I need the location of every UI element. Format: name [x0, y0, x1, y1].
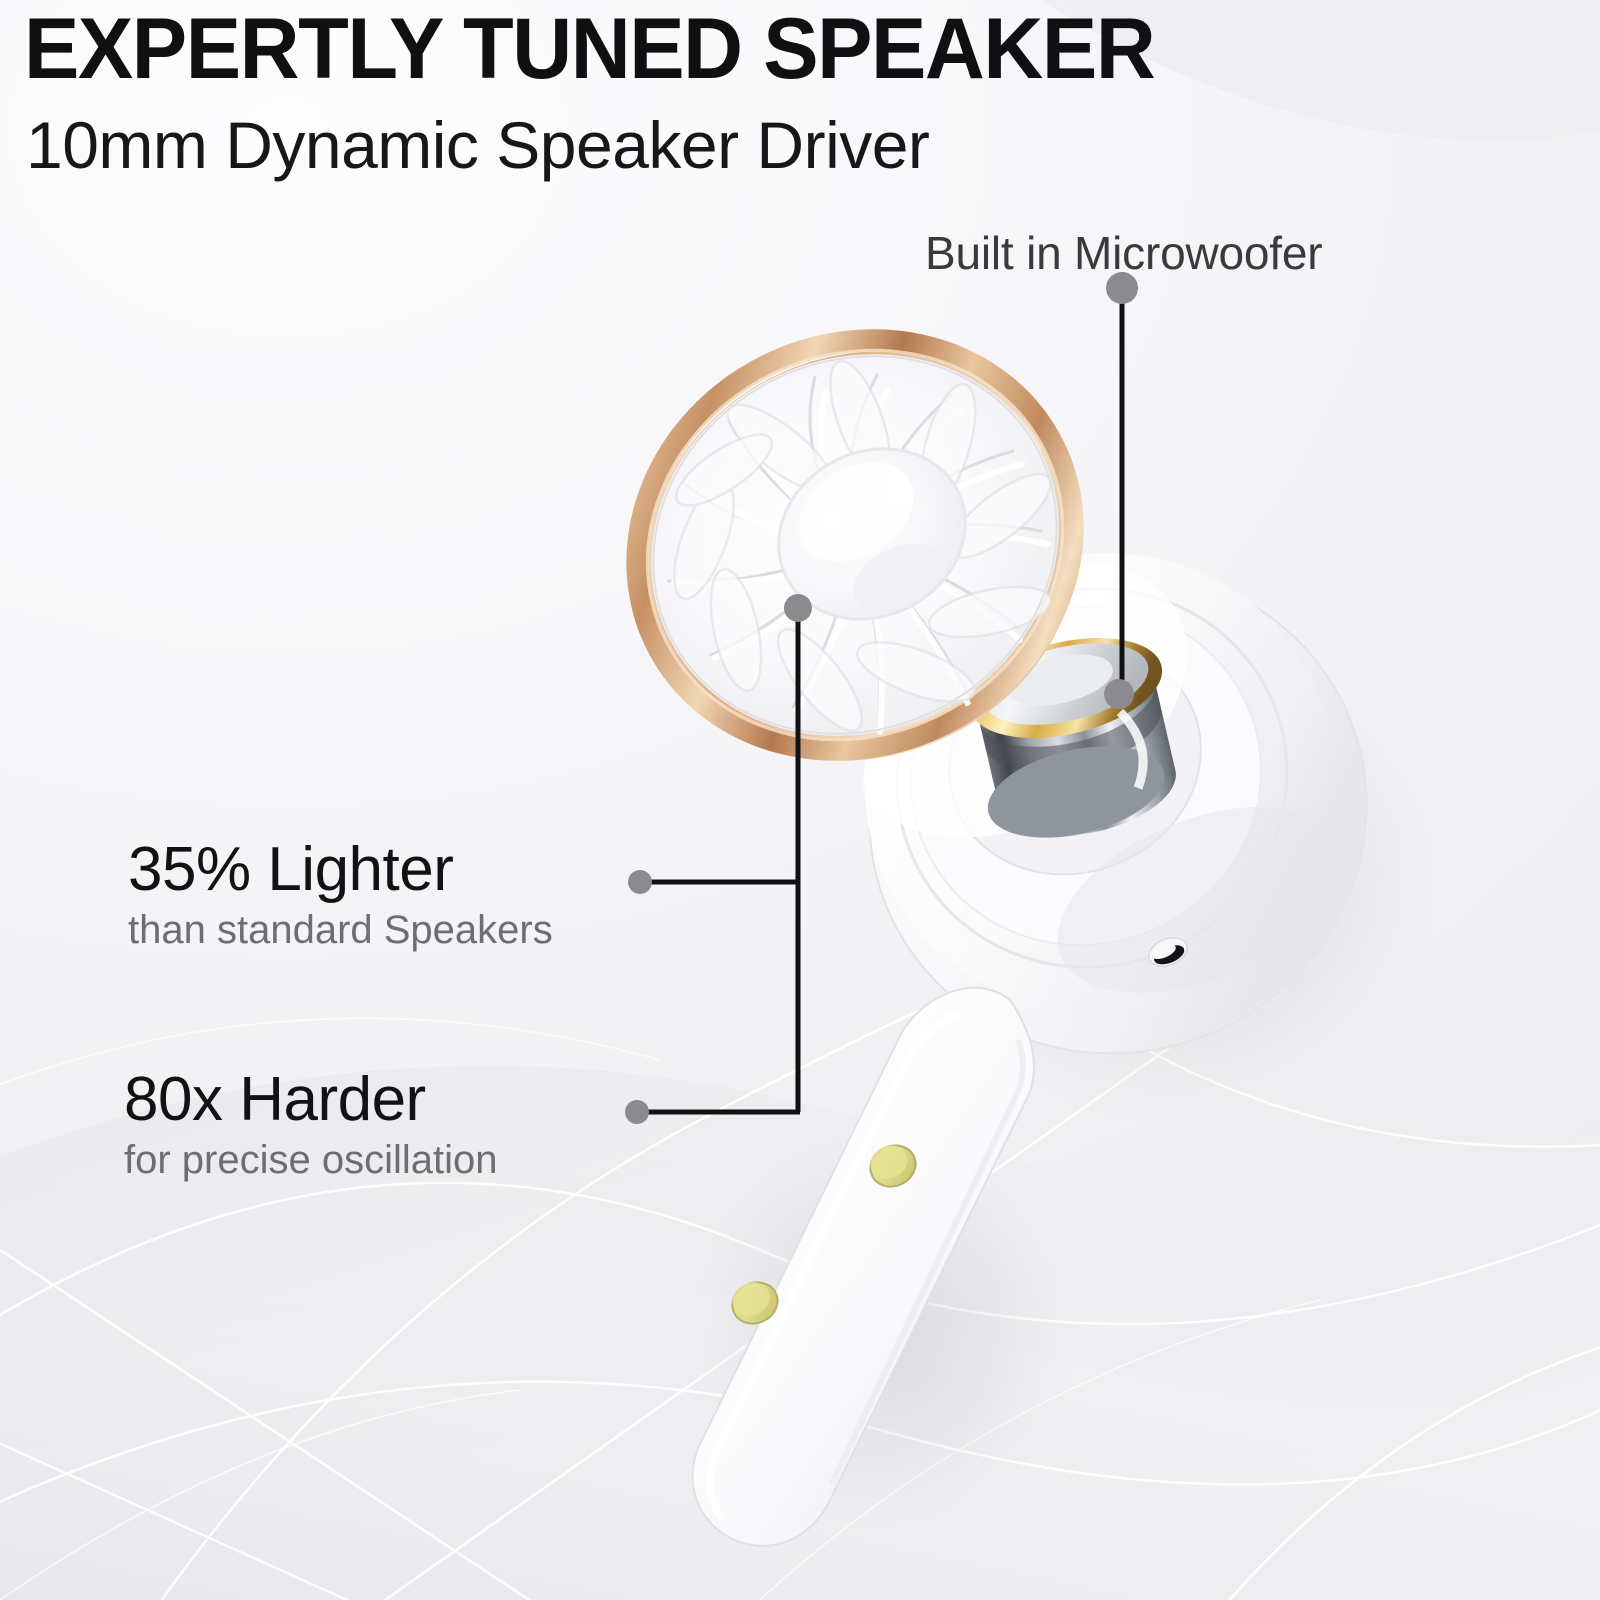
callout-harder: 80x Harder for precise oscillation — [124, 1068, 498, 1185]
callout-harder-title: 80x Harder — [124, 1068, 498, 1131]
leader-dot-microwoofer-anchor — [1104, 679, 1134, 709]
callout-harder-subtitle: for precise oscillation — [124, 1135, 498, 1185]
leader-dot-lighter — [628, 870, 652, 894]
page-subtitle: 10mm Dynamic Speaker Driver — [26, 112, 929, 178]
callout-microwoofer: Built in Microwoofer — [925, 226, 1322, 280]
leader-dot-diaphragm-anchor — [784, 594, 812, 622]
leader-lines — [0, 0, 1600, 1600]
leader-dot-harder — [625, 1100, 649, 1124]
page-title: EXPERTLY TUNED SPEAKER — [24, 6, 1154, 92]
callout-microwoofer-title: Built in Microwoofer — [925, 227, 1322, 279]
callout-lighter-title: 35% Lighter — [128, 838, 553, 901]
infographic-canvas: EXPERTLY TUNED SPEAKER 10mm Dynamic Spea… — [0, 0, 1600, 1600]
callout-lighter: 35% Lighter than standard Speakers — [128, 838, 553, 955]
callout-lighter-subtitle: than standard Speakers — [128, 905, 553, 955]
